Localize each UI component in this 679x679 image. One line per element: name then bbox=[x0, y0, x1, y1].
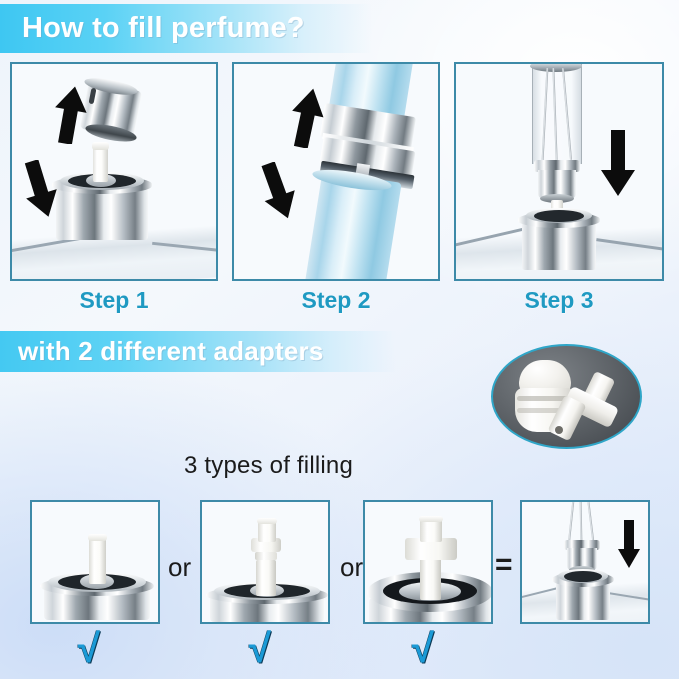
step-1-label: Step 1 bbox=[10, 287, 218, 314]
step-2-label: Step 2 bbox=[232, 287, 440, 314]
filling-result-scene bbox=[522, 502, 648, 622]
step-3-scene bbox=[456, 64, 662, 279]
filling-title: 3 types of filling bbox=[184, 452, 353, 480]
filling-option-2-image bbox=[200, 500, 330, 624]
plain-nozzle bbox=[89, 536, 106, 584]
step-3-label: Step 3 bbox=[454, 287, 664, 314]
filling-result-image bbox=[520, 500, 650, 624]
adapters-photo bbox=[491, 344, 642, 449]
stepped-nozzle-tip bbox=[257, 518, 277, 524]
cross-nozzle-tip bbox=[419, 516, 443, 522]
separator-or-2: or bbox=[340, 552, 363, 583]
filling-option-1-scene bbox=[32, 502, 158, 622]
pump-collar-body bbox=[556, 582, 610, 620]
step-3-image bbox=[454, 62, 664, 281]
filling-option-1-image bbox=[30, 500, 160, 624]
arrow-down-icon bbox=[598, 130, 640, 196]
dip-tube-3 bbox=[587, 502, 594, 544]
filling-option-3-image bbox=[363, 500, 493, 624]
filling-option-1-check: √ bbox=[78, 629, 100, 669]
plain-nozzle-tip bbox=[88, 534, 107, 541]
pump-opening bbox=[564, 571, 602, 582]
stepped-nozzle-lower bbox=[256, 560, 276, 596]
filling-option-3-scene bbox=[365, 502, 491, 622]
pump-collar-body bbox=[522, 222, 596, 270]
arrow-down-icon bbox=[616, 520, 644, 568]
filling-option-2-scene bbox=[202, 502, 328, 622]
separator-equals: = bbox=[495, 548, 513, 582]
step-1-image bbox=[10, 62, 218, 281]
adapters-title: with 2 different adapters bbox=[0, 331, 396, 372]
cross-nozzle-stem bbox=[420, 558, 441, 600]
arrow-up-icon bbox=[288, 88, 330, 148]
dip-tube-2 bbox=[580, 502, 583, 544]
stepped-nozzle-mid-joint bbox=[255, 552, 277, 560]
separator-or-1: or bbox=[168, 552, 191, 583]
arrow-down-icon bbox=[256, 162, 304, 220]
step-2-scene bbox=[234, 64, 438, 279]
pump-collar-body bbox=[56, 188, 148, 240]
pump-opening bbox=[534, 210, 584, 222]
step-2-image bbox=[232, 62, 440, 281]
arrow-up-icon bbox=[52, 86, 92, 144]
dip-tube-1 bbox=[568, 502, 574, 544]
cross-adapter-bore bbox=[555, 426, 563, 434]
filling-option-2-check: √ bbox=[249, 629, 271, 669]
white-nozzle-tip bbox=[92, 142, 109, 150]
page-title: How to fill perfume? bbox=[0, 4, 372, 53]
step-1-scene bbox=[12, 64, 216, 279]
infographic-root: How to fill perfume? bbox=[0, 0, 679, 679]
filling-option-3-check: √ bbox=[412, 629, 434, 669]
arrow-down-icon bbox=[18, 160, 66, 218]
